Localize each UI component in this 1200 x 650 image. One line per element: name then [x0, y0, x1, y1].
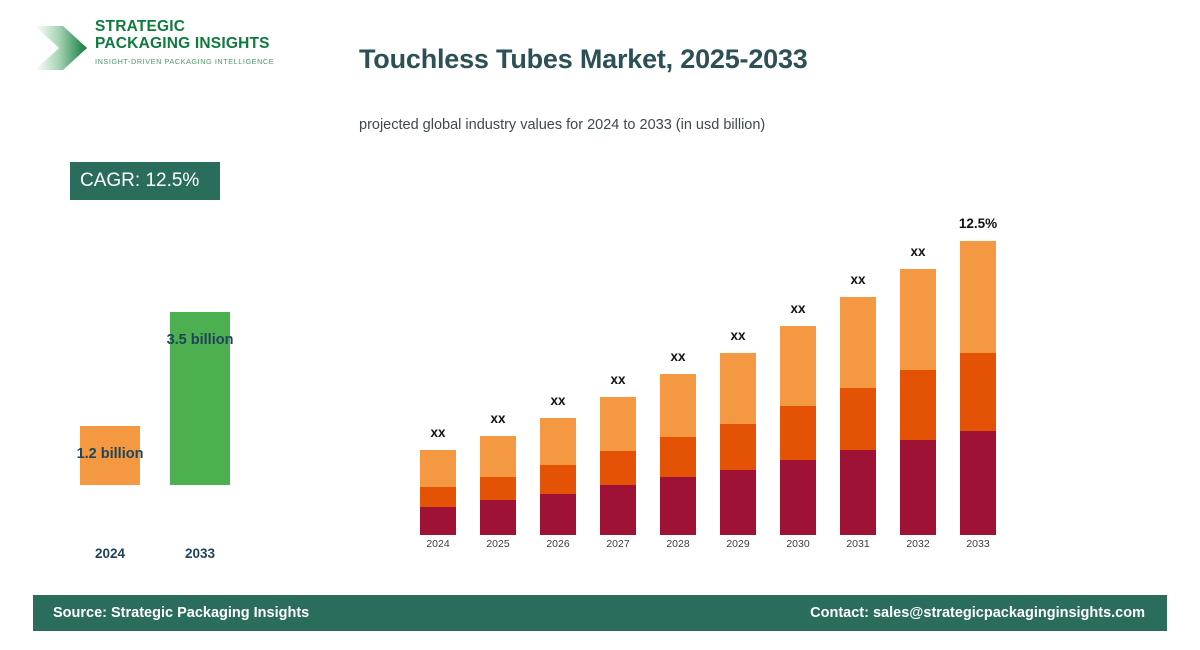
stacked-bar-segment: [720, 353, 756, 424]
stacked-bar-segment: [720, 470, 756, 535]
stacked-bar-column: [780, 0, 816, 535]
stacked-bar-year-label: 2025: [468, 538, 528, 550]
stacked-bar-year-label: 2033: [948, 538, 1008, 550]
stacked-bar-segment: [420, 507, 456, 535]
stacked-bar-segment: [900, 269, 936, 370]
footer-source: Source: Strategic Packaging Insights: [53, 595, 309, 631]
stacked-bar-segment: [480, 477, 516, 500]
stacked-bar-segment: [780, 406, 816, 460]
stacked-bar-segment: [480, 500, 516, 535]
stacked-bar-segment: [480, 436, 516, 477]
stacked-bar-segment: [960, 431, 996, 535]
stacked-bar-top-label: xx: [588, 372, 648, 387]
stacked-bar-column: [540, 0, 576, 535]
stacked-bar-top-label: 12.5%: [948, 216, 1008, 231]
stacked-bar-segment: [660, 477, 696, 535]
stacked-bar-segment: [540, 494, 576, 535]
stacked-bar-segment: [960, 241, 996, 353]
stacked-bar-column: [840, 0, 876, 535]
stacked-bar-year-label: 2030: [768, 538, 828, 550]
infographic-page: STRATEGIC PACKAGING INSIGHTS INSIGHT-DRI…: [0, 0, 1200, 650]
stacked-bar-year-label: 2026: [528, 538, 588, 550]
stacked-bar-column: [420, 0, 456, 535]
stacked-bar-column: [960, 0, 996, 535]
stacked-bar-top-label: xx: [408, 425, 468, 440]
footer-contact[interactable]: Contact: sales@strategicpackaginginsight…: [810, 595, 1145, 631]
stacked-bar-segment: [600, 485, 636, 535]
stacked-bar-year-label: 2031: [828, 538, 888, 550]
stacked-bar-segment: [420, 487, 456, 507]
stacked-bar-segment: [540, 418, 576, 465]
stacked-bar-top-label: xx: [648, 349, 708, 364]
stacked-bar-year-label: 2028: [648, 538, 708, 550]
stacked-bar-top-label: xx: [528, 393, 588, 408]
stacked-bar-segment: [840, 450, 876, 535]
stacked-bar-segment: [780, 326, 816, 406]
stacked-bar-segment: [840, 388, 876, 450]
stacked-bar-segment: [900, 370, 936, 440]
stacked-bar-segment: [720, 424, 756, 470]
stacked-bar-segment: [600, 451, 636, 485]
stacked-bar-top-label: xx: [888, 244, 948, 259]
stacked-bar-segment: [600, 397, 636, 451]
stacked-bar-column: [660, 0, 696, 535]
segment-stacked-forecast-chart: xx2024xx2025xx2026xx2027xx2028xx2029xx20…: [0, 0, 1200, 600]
stacked-bar-column: [720, 0, 756, 535]
stacked-bar-column: [480, 0, 516, 535]
stacked-bar-year-label: 2027: [588, 538, 648, 550]
stacked-bar-year-label: 2024: [408, 538, 468, 550]
stacked-bar-segment: [660, 437, 696, 477]
stacked-bar-column: [900, 0, 936, 535]
stacked-bar-top-label: xx: [468, 411, 528, 426]
stacked-bar-top-label: xx: [768, 301, 828, 316]
stacked-bar-segment: [900, 440, 936, 535]
stacked-bar-year-label: 2029: [708, 538, 768, 550]
stacked-bar-top-label: xx: [828, 272, 888, 287]
stacked-bar-segment: [840, 297, 876, 388]
footer-bar: Source: Strategic Packaging Insights Con…: [33, 595, 1167, 631]
stacked-bar-segment: [660, 374, 696, 437]
stacked-bar-segment: [960, 353, 996, 431]
stacked-bar-year-label: 2032: [888, 538, 948, 550]
stacked-bar-column: [600, 0, 636, 535]
stacked-bar-segment: [540, 465, 576, 494]
stacked-bar-segment: [780, 460, 816, 535]
stacked-bar-top-label: xx: [708, 328, 768, 343]
stacked-bar-segment: [420, 450, 456, 487]
